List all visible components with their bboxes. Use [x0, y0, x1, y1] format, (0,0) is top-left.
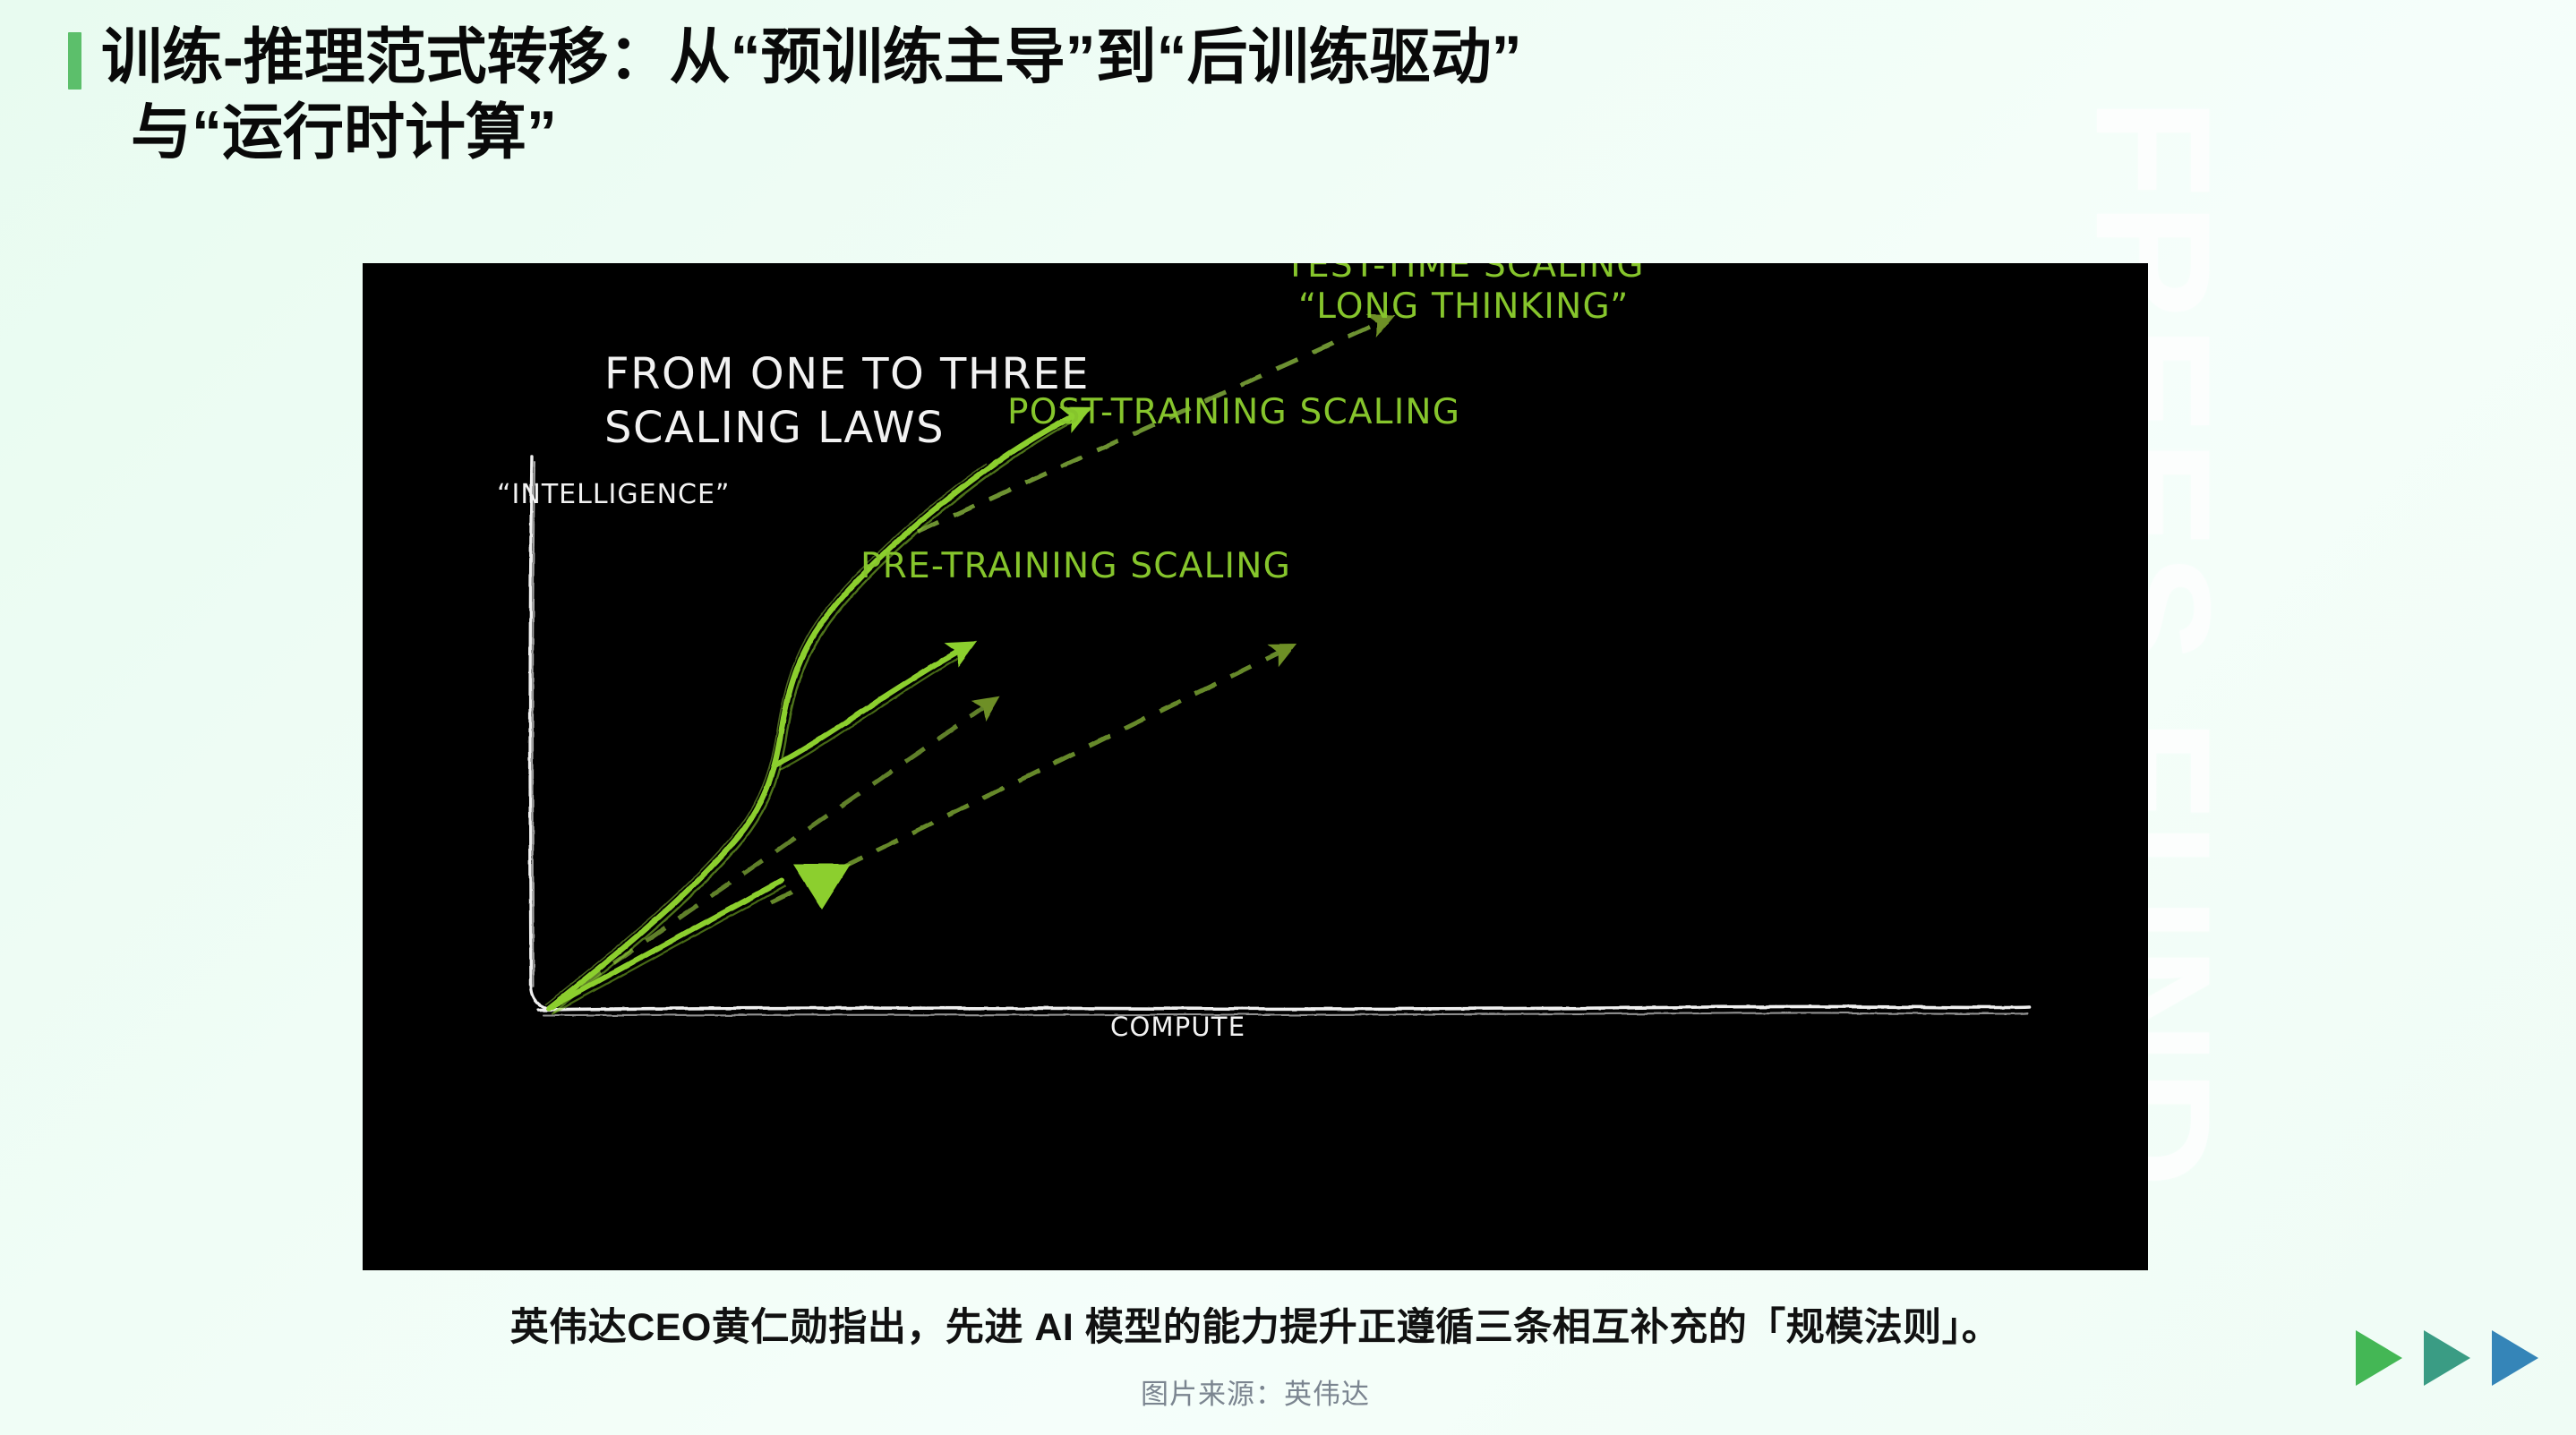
chart-caption: 英伟达CEO黄仁勋指出，先进 AI 模型的能力提升正遵循三条相互补充的「规模法则… — [363, 1296, 2148, 1352]
scaling-laws-chart: FROM ONE TO THREE SCALING LAWS “INTELLIG… — [363, 263, 2148, 1270]
title-line-2: 与“运行时计算” — [101, 95, 2199, 170]
triangle-mark-3 — [2492, 1330, 2538, 1386]
triangle-mark-2 — [2424, 1330, 2470, 1386]
pre-training-marker-triangle — [793, 864, 851, 910]
chart-image-panel: FROM ONE TO THREE SCALING LAWS “INTELLIG… — [363, 263, 2148, 1270]
source-attribution: 图片来源：英伟达 — [363, 1371, 2148, 1412]
y-axis-label: “INTELLIGENCE” — [497, 479, 730, 510]
footer-triangle-marks — [2350, 1323, 2556, 1395]
title-line-1: 训练-推理范式转移：从“预训练主导”到“后训练驱动” — [101, 20, 2199, 95]
triangle-mark-1 — [2356, 1330, 2402, 1386]
curve-pre-training — [549, 881, 785, 1013]
page-title: 训练-推理范式转移：从“预训练主导”到“后训练驱动” 与“运行时计算” — [68, 20, 2199, 171]
chart-headline-line-2: SCALING LAWS — [604, 403, 945, 453]
slide-root: FREES FUND 训练-推理范式转移：从“预训练主导”到“后训练驱动” 与“… — [0, 0, 2576, 1435]
x-axis-label: COMPUTE — [1110, 1012, 1245, 1042]
title-accent-bar — [68, 32, 81, 90]
